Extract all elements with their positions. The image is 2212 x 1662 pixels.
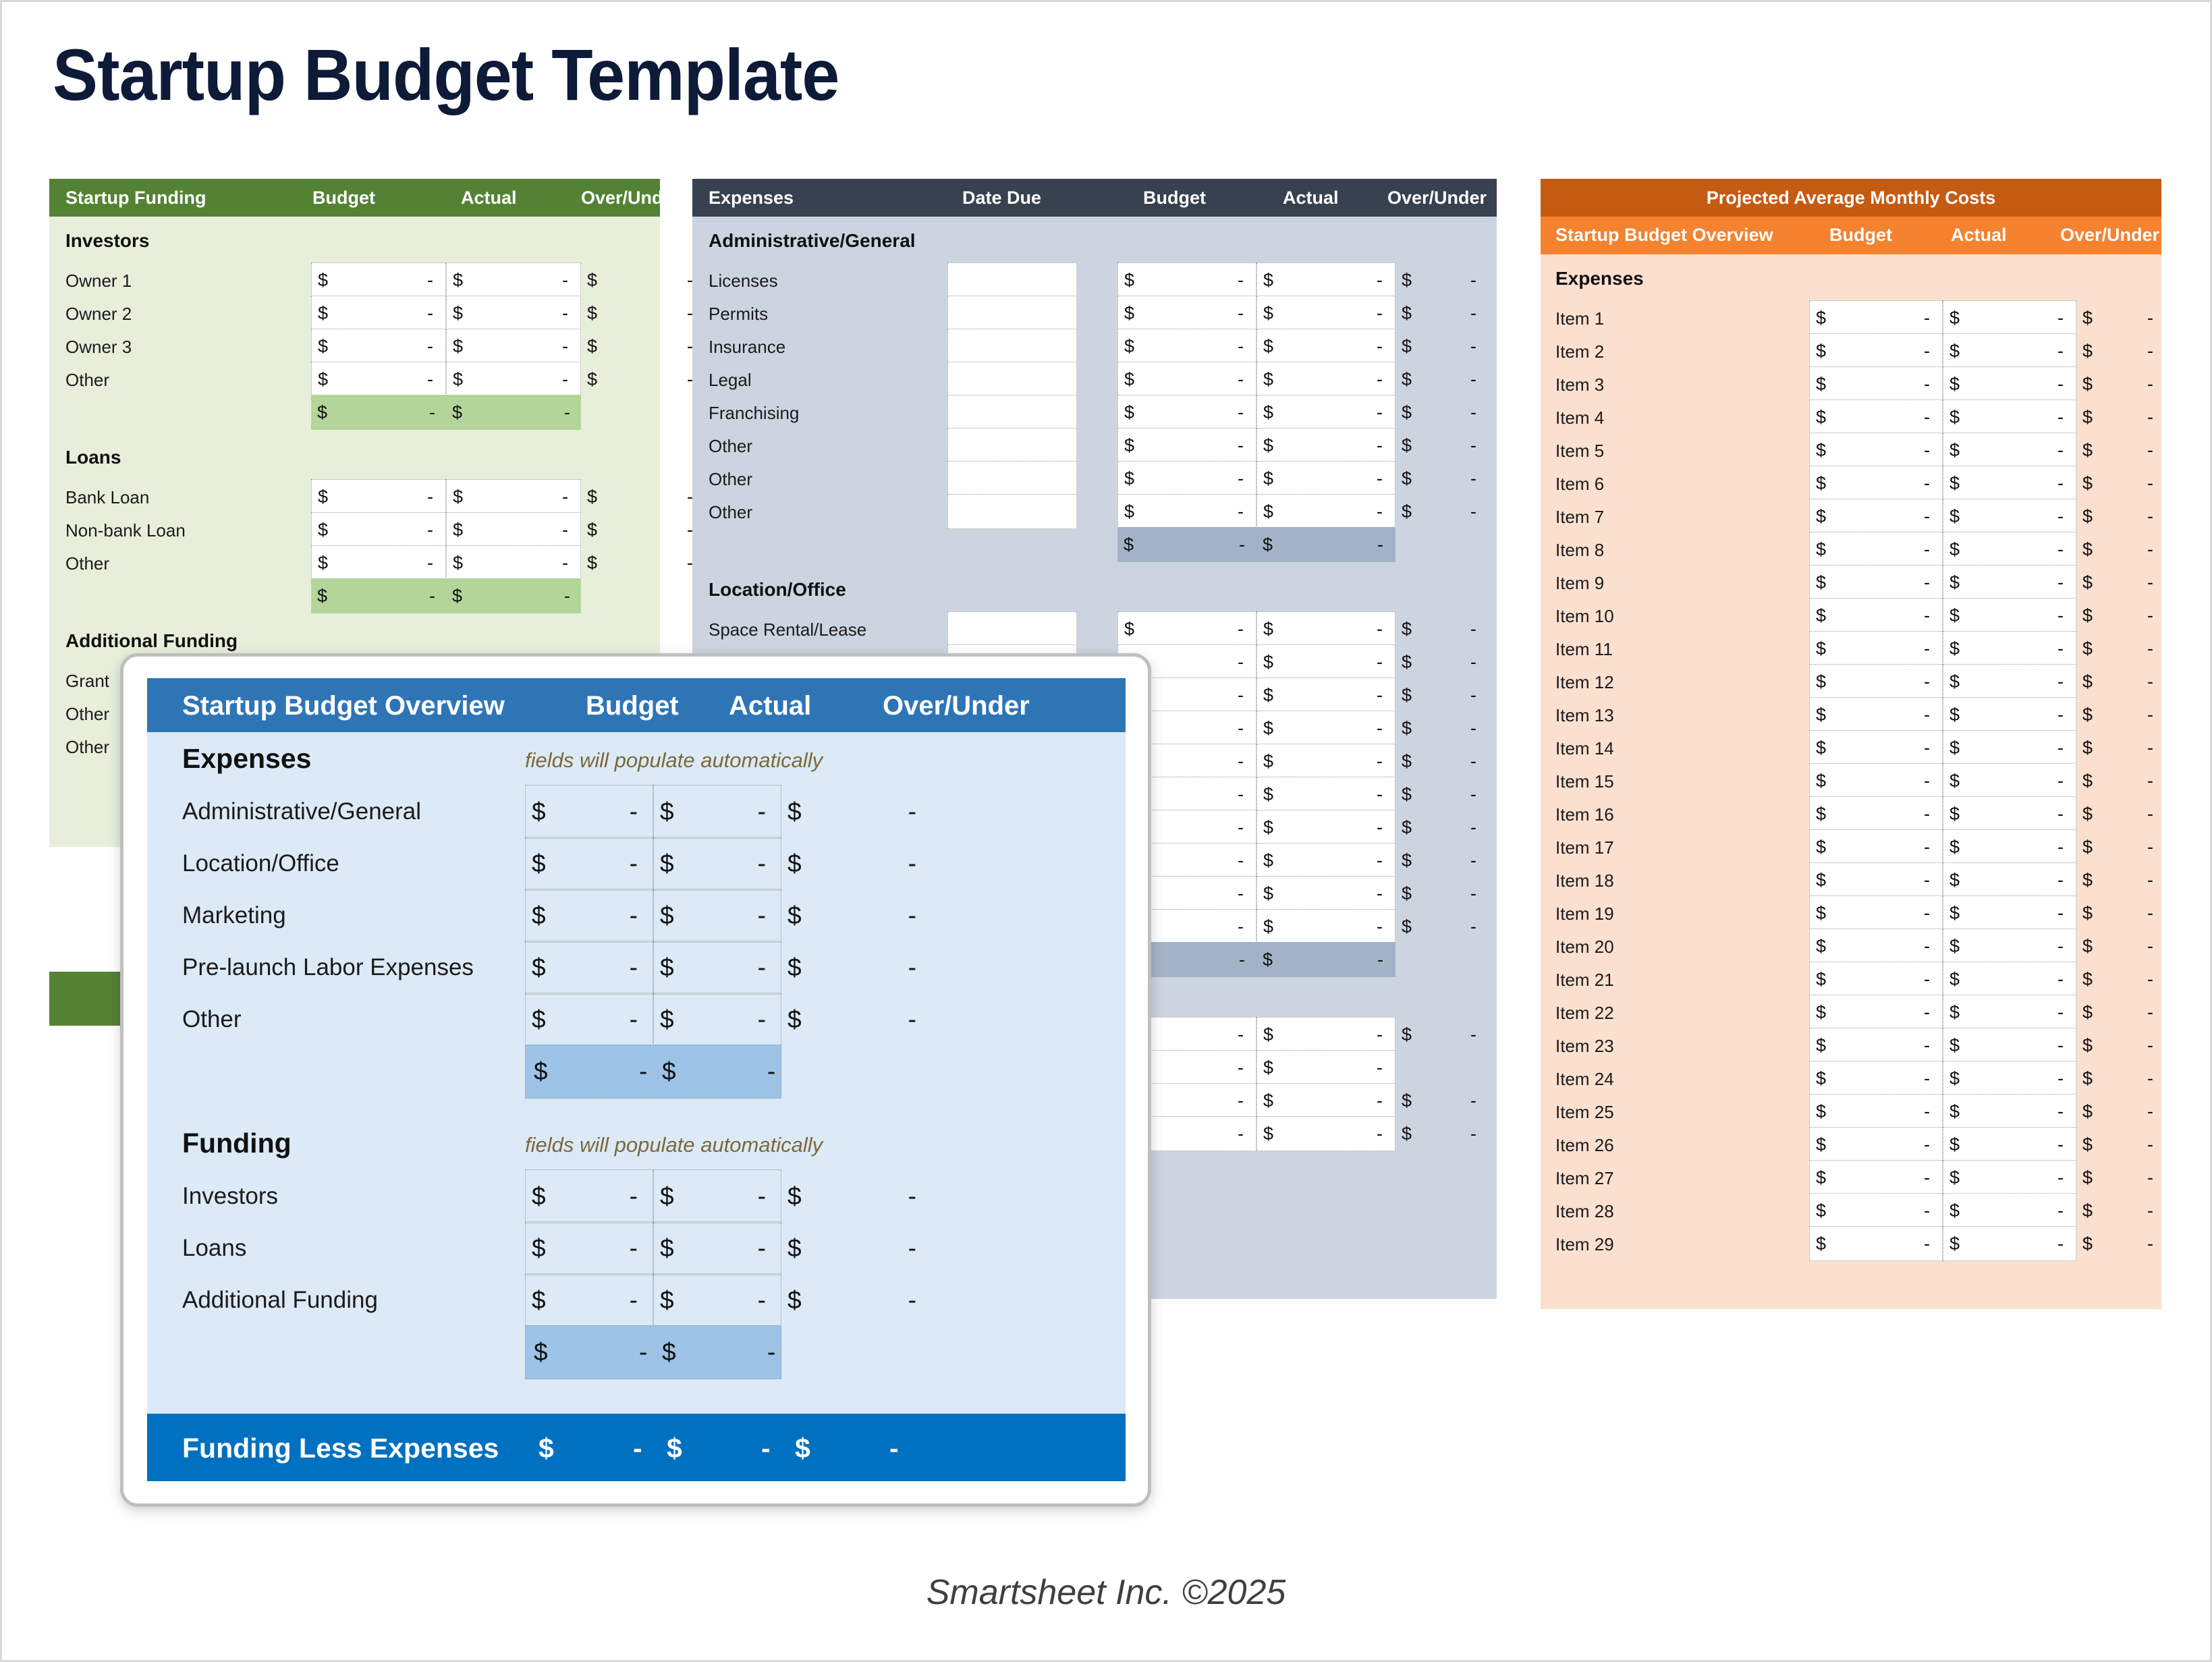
cell-value: - [2147, 969, 2161, 990]
currency-symbol: $ [2076, 374, 2093, 395]
overview-actual-cell[interactable]: $- [653, 1273, 781, 1327]
cell-value: - [1924, 506, 1942, 527]
monthly-budget-cell[interactable]: $- [1809, 1160, 1943, 1195]
currency-symbol: $ [1943, 638, 1960, 659]
monthly-overunder-cell: $- [2076, 598, 2161, 633]
currency-symbol: $ [1118, 435, 1134, 456]
expenses-budget-cell[interactable]: $- [1117, 494, 1256, 529]
currency-symbol: $ [2076, 1134, 2093, 1155]
cell-value: - [427, 270, 445, 291]
currency-symbol: $ [1810, 407, 1826, 428]
monthly-actual-cell[interactable]: $- [1943, 995, 2076, 1030]
cell-value: - [1238, 1090, 1256, 1111]
overview-overunder-cell: $- [781, 1273, 916, 1327]
monthly-overunder-cell: $- [2076, 829, 2161, 864]
currency-symbol: $ [781, 953, 802, 982]
expenses-datedue-cell[interactable] [947, 461, 1077, 496]
monthly-budget-cell[interactable]: $- [1809, 962, 1943, 997]
monthly-overunder-cell: $- [2076, 697, 2161, 732]
cell-value: - [630, 902, 653, 930]
cell-value: - [2147, 572, 2161, 593]
monthly-budget-cell[interactable]: $- [1809, 399, 1943, 435]
expenses-overunder-cell: $- [1395, 611, 1497, 646]
monthly-actual-cell[interactable]: $- [1943, 962, 2076, 997]
cell-value: - [2057, 903, 2076, 924]
cell-value: - [2147, 671, 2161, 692]
currency-symbol: $ [2076, 936, 2093, 957]
overview-budget-cell[interactable]: $- [525, 993, 653, 1047]
monthly-budget-cell[interactable]: $- [1809, 333, 1943, 368]
expenses-actual-cell[interactable]: $- [1256, 428, 1395, 463]
funding-actual-cell[interactable]: $- [446, 479, 581, 514]
monthly-actual-cell[interactable]: $- [1943, 664, 2076, 699]
overview-budget-cell[interactable]: $- [525, 1221, 653, 1275]
expenses-group-title: Location/Office [709, 579, 846, 601]
funding-budget-cell[interactable]: $- [311, 296, 446, 331]
fle-overunder-dollar: $ [795, 1433, 810, 1464]
monthly-row-label: Item 4 [1555, 408, 1604, 428]
currency-symbol: $ [1810, 1134, 1826, 1155]
monthly-row-label: Item 23 [1555, 1036, 1614, 1057]
total-budget-value: - [639, 1338, 647, 1366]
cell-value: - [1924, 341, 1942, 362]
cell-value: - [427, 520, 445, 541]
monthly-overunder-cell: $- [2076, 1127, 2161, 1162]
funding-budget-cell[interactable]: $- [311, 262, 446, 298]
monthly-actual-cell[interactable]: $- [1943, 366, 2076, 401]
monthly-row-label: Item 8 [1555, 540, 1604, 561]
currency-symbol: $ [654, 850, 674, 878]
expenses-budget-cell[interactable]: $- [1117, 428, 1256, 463]
monthly-row-label: Item 29 [1555, 1234, 1614, 1255]
cell-value: - [1238, 1057, 1256, 1078]
cell-value: - [427, 336, 445, 357]
cell-value: - [758, 902, 781, 930]
cell-value: - [2057, 804, 2076, 825]
currency-symbol: $ [1810, 1068, 1826, 1089]
expenses-actual-cell[interactable]: $- [1256, 461, 1395, 496]
funding-actual-cell[interactable]: $- [446, 329, 581, 364]
expenses-actual-cell[interactable]: $- [1256, 810, 1395, 845]
expenses-budget-cell[interactable]: $- [1117, 329, 1256, 364]
monthly-budget-cell[interactable]: $- [1809, 730, 1943, 765]
expenses-actual-cell[interactable]: $- [1256, 677, 1395, 713]
currency-symbol: $ [1257, 652, 1273, 673]
monthly-budget-cell[interactable]: $- [1809, 995, 1943, 1030]
cell-value: - [1377, 1090, 1395, 1111]
overview-row-label: Administrative/General [182, 798, 421, 825]
funding-group-title: Additional Funding [65, 630, 238, 652]
overview-overunder-cell: $- [781, 993, 916, 1047]
expenses-actual-cell[interactable]: $- [1256, 777, 1395, 812]
monthly-budget-cell[interactable]: $- [1809, 895, 1943, 931]
monthly-overunder-cell: $- [2076, 1094, 2161, 1129]
cell-value: - [1238, 652, 1256, 673]
monthly-actual-cell[interactable]: $- [1943, 300, 2076, 335]
cell-value: - [1470, 751, 1497, 772]
cell-value: - [1377, 850, 1395, 871]
monthly-budget-cell[interactable]: $- [1809, 433, 1943, 468]
monthly-budget-cell[interactable]: $- [1809, 796, 1943, 831]
currency-symbol: $ [1395, 369, 1412, 390]
cell-value: - [1924, 903, 1942, 924]
overview-budget-cell[interactable]: $- [525, 889, 653, 943]
expenses-actual-cell[interactable]: $- [1256, 611, 1395, 646]
expenses-actual-cell[interactable]: $- [1256, 909, 1395, 944]
funding-actual-cell[interactable]: $- [446, 545, 581, 580]
expenses-budget-cell[interactable]: $- [1117, 395, 1256, 430]
cell-value: - [908, 850, 916, 878]
currency-symbol: $ [2076, 1002, 2093, 1023]
cell-value: - [1238, 468, 1256, 489]
currency-symbol: $ [1810, 738, 1826, 758]
monthly-budget-cell[interactable]: $- [1809, 1127, 1943, 1162]
currency-symbol: $ [452, 586, 462, 607]
monthly-overunder-cell: $- [2076, 763, 2161, 798]
currency-symbol: $ [1118, 619, 1134, 640]
cell-value: - [1377, 751, 1395, 772]
cell-value: - [1238, 1124, 1256, 1144]
currency-symbol: $ [2076, 1234, 2093, 1254]
monthly-budget-cell[interactable]: $- [1809, 466, 1943, 501]
funding-budget-cell[interactable]: $- [311, 329, 446, 364]
monthly-actual-cell[interactable]: $- [1943, 433, 2076, 468]
cell-value: - [2147, 1134, 2161, 1155]
currency-symbol: $ [1257, 270, 1273, 291]
cell-value: - [630, 1182, 653, 1211]
monthly-budget-cell[interactable]: $- [1809, 862, 1943, 897]
monthly-actual-cell[interactable]: $- [1943, 399, 2076, 435]
expenses-actual-cell[interactable]: $- [1256, 711, 1395, 746]
monthly-budget-cell[interactable]: $- [1809, 929, 1943, 964]
currency-symbol: $ [1810, 969, 1826, 990]
cell-value: - [1238, 817, 1256, 838]
currency-symbol: $ [1257, 402, 1273, 423]
expenses-datedue-cell[interactable] [947, 395, 1077, 430]
currency-symbol: $ [1395, 784, 1412, 805]
expenses-overunder-cell: $- [1395, 395, 1497, 430]
monthly-actual-cell[interactable]: $- [1943, 565, 2076, 600]
currency-symbol: $ [1943, 738, 1960, 758]
monthly-actual-cell[interactable]: $- [1943, 763, 2076, 798]
currency-symbol: $ [526, 1234, 546, 1263]
overview-actual-cell[interactable]: $- [653, 837, 781, 891]
currency-symbol: $ [1395, 402, 1412, 423]
currency-symbol: $ [581, 336, 597, 357]
cell-value: - [908, 902, 916, 930]
cell-value: - [1238, 336, 1256, 357]
cell-value: - [1924, 1134, 1942, 1155]
overview-row-label: Marketing [182, 902, 286, 929]
monthly-overunder-cell: $- [2076, 962, 2161, 997]
overview-budget-cell[interactable]: $- [525, 1273, 653, 1327]
monthly-overunder-cell: $- [2076, 1028, 2161, 1063]
monthly-budget-cell[interactable]: $- [1809, 499, 1943, 534]
currency-symbol: $ [1810, 704, 1826, 725]
cell-value: - [1470, 270, 1497, 291]
overview-actual-cell[interactable]: $- [653, 941, 781, 995]
monthly-actual-cell[interactable]: $- [1943, 631, 2076, 666]
expenses-actual-cell[interactable]: $- [1256, 876, 1395, 911]
currency-symbol: $ [1943, 1101, 1960, 1122]
cell-value: - [427, 369, 445, 390]
currency-symbol: $ [2076, 1101, 2093, 1122]
expenses-actual-cell[interactable]: $- [1256, 1116, 1395, 1151]
currency-symbol: $ [1810, 539, 1826, 560]
cell-value: - [758, 1182, 781, 1211]
currency-symbol: $ [662, 1338, 676, 1366]
monthly-actual-cell[interactable]: $- [1943, 532, 2076, 567]
currency-symbol: $ [1257, 1057, 1273, 1078]
currency-symbol: $ [781, 1234, 802, 1263]
currency-symbol: $ [2076, 903, 2093, 924]
monthly-budget-cell[interactable]: $- [1809, 829, 1943, 864]
monthly-budget-cell[interactable]: $- [1809, 1028, 1943, 1063]
monthly-row-label: Item 18 [1555, 870, 1614, 891]
monthly-actual-cell[interactable]: $- [1943, 333, 2076, 368]
cell-value: - [2057, 870, 2076, 891]
monthly-actual-cell[interactable]: $- [1943, 796, 2076, 831]
cell-value: - [1238, 685, 1256, 706]
expenses-actual-cell[interactable]: $- [1256, 296, 1395, 331]
cell-value: - [2057, 969, 2076, 990]
cell-value: - [1238, 916, 1256, 937]
expenses-budget-cell[interactable]: $- [1117, 611, 1256, 646]
funding-actual-cell[interactable]: $- [446, 362, 581, 397]
currency-symbol: $ [1395, 817, 1412, 838]
monthly-overunder-cell: $- [2076, 466, 2161, 501]
expenses-actual-cell[interactable]: $- [1256, 494, 1395, 529]
funding-header-col1: Startup Funding [65, 188, 206, 209]
monthly-budget-cell[interactable]: $- [1809, 598, 1943, 633]
funding-row-label: Owner 2 [65, 304, 132, 325]
currency-symbol: $ [2076, 1167, 2093, 1188]
overview-actual-cell[interactable]: $- [653, 889, 781, 943]
cell-value: - [2147, 1101, 2161, 1122]
expenses-actual-cell[interactable]: $- [1256, 744, 1395, 779]
overview-row-label: Loans [182, 1235, 246, 1262]
currency-symbol: $ [1118, 336, 1134, 357]
currency-symbol: $ [526, 850, 546, 878]
monthly-row-label: Item 28 [1555, 1201, 1614, 1222]
monthly-actual-cell[interactable]: $- [1943, 499, 2076, 534]
monthly-overunder-cell: $- [2076, 333, 2161, 368]
monthly-actual-cell[interactable]: $- [1943, 862, 2076, 897]
currency-symbol: $ [1943, 1068, 1960, 1089]
monthly-budget-cell[interactable]: $- [1809, 1094, 1943, 1129]
cell-value: - [1924, 804, 1942, 825]
monthly-budget-cell[interactable]: $- [1809, 697, 1943, 732]
monthly-actual-cell[interactable]: $- [1943, 1226, 2076, 1261]
monthly-actual-cell[interactable]: $- [1943, 466, 2076, 501]
monthly-actual-cell[interactable]: $- [1943, 929, 2076, 964]
funding-row-label: Other [65, 553, 109, 574]
monthly-budget-cell[interactable]: $- [1809, 763, 1943, 798]
expenses-actual-cell[interactable]: $- [1256, 843, 1395, 878]
monthly-actual-cell[interactable]: $- [1943, 1160, 2076, 1195]
expenses-datedue-cell[interactable] [947, 611, 1077, 646]
expenses-budget-cell[interactable]: $- [1117, 296, 1256, 331]
funding-budget-cell[interactable]: $- [311, 545, 446, 580]
expenses-datedue-cell[interactable] [947, 329, 1077, 364]
expenses-actual-cell[interactable]: $- [1256, 362, 1395, 397]
overview-budget-cell[interactable]: $- [525, 941, 653, 995]
monthly-actual-cell[interactable]: $- [1943, 829, 2076, 864]
expenses-budget-cell[interactable]: $- [1117, 461, 1256, 496]
expenses-actual-cell[interactable]: $- [1256, 1050, 1395, 1085]
monthly-actual-cell[interactable]: $- [1943, 1028, 2076, 1063]
monthly-budget-cell[interactable]: $- [1809, 300, 1943, 335]
expenses-actual-cell[interactable]: $- [1256, 1083, 1395, 1118]
monthly-header-col1: Startup Budget Overview [1555, 225, 1773, 246]
overview-overunder-cell: $- [781, 941, 916, 995]
monthly-row-label: Item 1 [1555, 308, 1604, 329]
currency-symbol: $ [1810, 1234, 1826, 1254]
monthly-actual-cell[interactable]: $- [1943, 895, 2076, 931]
currency-symbol: $ [1810, 1101, 1826, 1122]
cell-value: - [630, 1234, 653, 1263]
expenses-overunder-cell: $- [1395, 262, 1497, 298]
funding-budget-cell[interactable]: $- [311, 512, 446, 547]
expenses-datedue-cell[interactable] [947, 428, 1077, 463]
expenses-budget-cell[interactable]: $- [1117, 262, 1256, 298]
expenses-overunder-cell: $- [1395, 329, 1497, 364]
currency-symbol: $ [447, 553, 463, 574]
monthly-actual-cell[interactable]: $- [1943, 1061, 2076, 1096]
monthly-row-label: Item 14 [1555, 738, 1614, 759]
cell-value: - [2147, 440, 2161, 461]
monthly-budget-cell[interactable]: $- [1809, 1061, 1943, 1096]
monthly-budget-cell[interactable]: $- [1809, 1193, 1943, 1228]
cell-value: - [1470, 718, 1497, 739]
currency-symbol: $ [1257, 685, 1273, 706]
monthly-budget-cell[interactable]: $- [1809, 664, 1943, 699]
cell-value: - [758, 1234, 781, 1263]
page-title: Startup Budget Template [53, 32, 839, 117]
cell-value: - [2147, 771, 2161, 792]
currency-symbol: $ [1943, 1200, 1960, 1221]
expenses-actual-cell[interactable]: $- [1256, 262, 1395, 298]
expenses-datedue-cell[interactable] [947, 296, 1077, 331]
overview-actual-cell[interactable]: $- [653, 1221, 781, 1275]
monthly-row-label: Item 17 [1555, 837, 1614, 858]
cell-value: - [758, 953, 781, 982]
cell-value: - [1377, 468, 1395, 489]
monthly-actual-cell[interactable]: $- [1943, 1193, 2076, 1228]
total-actual-value: - [564, 402, 570, 423]
monthly-group-title: Expenses [1555, 268, 1644, 289]
cell-value: - [2147, 341, 2161, 362]
monthly-budget-cell[interactable]: $- [1809, 565, 1943, 600]
overview-actual-cell[interactable]: $- [653, 1169, 781, 1223]
cell-value: - [2057, 1234, 2076, 1254]
cell-value: - [2147, 539, 2161, 560]
cell-value: - [1238, 270, 1256, 291]
overview-budget-cell[interactable]: $- [525, 785, 653, 839]
funding-header-actual: Actual [461, 188, 517, 209]
monthly-row-label: Item 27 [1555, 1168, 1614, 1189]
funding-actual-cell[interactable]: $- [446, 512, 581, 547]
cell-value: - [562, 270, 580, 291]
expenses-actual-cell[interactable]: $- [1256, 1017, 1395, 1052]
monthly-budget-cell[interactable]: $- [1809, 366, 1943, 401]
currency-symbol: $ [1943, 870, 1960, 891]
cell-value: - [2057, 440, 2076, 461]
cell-value: - [1377, 883, 1395, 904]
expenses-actual-cell[interactable]: $- [1256, 395, 1395, 430]
expenses-overunder-cell: $- [1395, 843, 1497, 878]
monthly-overunder-cell: $- [2076, 631, 2161, 666]
cell-value: - [1238, 1024, 1256, 1045]
funding-budget-cell[interactable]: $- [311, 479, 446, 514]
currency-symbol: $ [2076, 539, 2093, 560]
expenses-datedue-cell[interactable] [947, 362, 1077, 397]
cell-value: - [1470, 619, 1497, 640]
cell-value: - [2057, 1101, 2076, 1122]
currency-symbol: $ [1943, 407, 1960, 428]
currency-symbol: $ [1943, 440, 1960, 461]
overview-budget-cell[interactable]: $- [525, 1169, 653, 1223]
footer-credit: Smartsheet Inc. ©2025 [0, 1572, 2212, 1613]
monthly-budget-cell[interactable]: $- [1809, 631, 1943, 666]
overview-actual-cell[interactable]: $- [653, 993, 781, 1047]
monthly-actual-cell[interactable]: $- [1943, 697, 2076, 732]
total-budget-value: - [429, 402, 435, 423]
expenses-row-label: Other [709, 502, 752, 523]
cell-value: - [1924, 936, 1942, 957]
monthly-overunder-cell: $- [2076, 796, 2161, 831]
cell-value: - [1470, 784, 1497, 805]
funding-budget-cell[interactable]: $- [311, 362, 446, 397]
expenses-datedue-cell[interactable] [947, 262, 1077, 298]
monthly-actual-cell[interactable]: $- [1943, 1127, 2076, 1162]
expenses-budget-cell[interactable]: $- [1117, 362, 1256, 397]
monthly-actual-cell[interactable]: $- [1943, 730, 2076, 765]
cell-value: - [1470, 916, 1497, 937]
overview-actual-cell[interactable]: $- [653, 785, 781, 839]
monthly-row-label: Item 16 [1555, 804, 1614, 825]
cell-value: - [2147, 1068, 2161, 1089]
cell-value: - [2147, 1167, 2161, 1188]
currency-symbol: $ [447, 270, 463, 291]
fle-actual-dollar: $ [667, 1433, 682, 1464]
expenses-overunder-cell: $- [1395, 296, 1497, 331]
cell-value: - [2057, 1035, 2076, 1056]
cell-value: - [908, 1182, 916, 1211]
currency-symbol: $ [1395, 1024, 1412, 1045]
monthly-budget-cell[interactable]: $- [1809, 532, 1943, 567]
cell-value: - [1924, 1234, 1942, 1254]
monthly-budget-cell[interactable]: $- [1809, 1226, 1943, 1261]
cell-value: - [2147, 738, 2161, 758]
monthly-actual-cell[interactable]: $- [1943, 598, 2076, 633]
overview-budget-cell[interactable]: $- [525, 837, 653, 891]
currency-symbol: $ [1810, 374, 1826, 395]
currency-symbol: $ [781, 1182, 802, 1211]
funding-actual-cell[interactable]: $- [446, 296, 581, 331]
funding-actual-cell[interactable]: $- [446, 262, 581, 298]
expenses-actual-cell[interactable]: $- [1256, 644, 1395, 680]
monthly-row-label: Item 10 [1555, 606, 1614, 627]
expenses-actual-cell[interactable]: $- [1256, 329, 1395, 364]
expenses-datedue-cell[interactable] [947, 494, 1077, 529]
monthly-row-label: Item 20 [1555, 937, 1614, 958]
monthly-overunder-cell: $- [2076, 532, 2161, 567]
currency-symbol: $ [1810, 837, 1826, 858]
currency-symbol: $ [526, 902, 546, 930]
overview-table: Startup Budget Overview Budget Actual Ov… [147, 678, 1126, 1481]
monthly-actual-cell[interactable]: $- [1943, 1094, 2076, 1129]
